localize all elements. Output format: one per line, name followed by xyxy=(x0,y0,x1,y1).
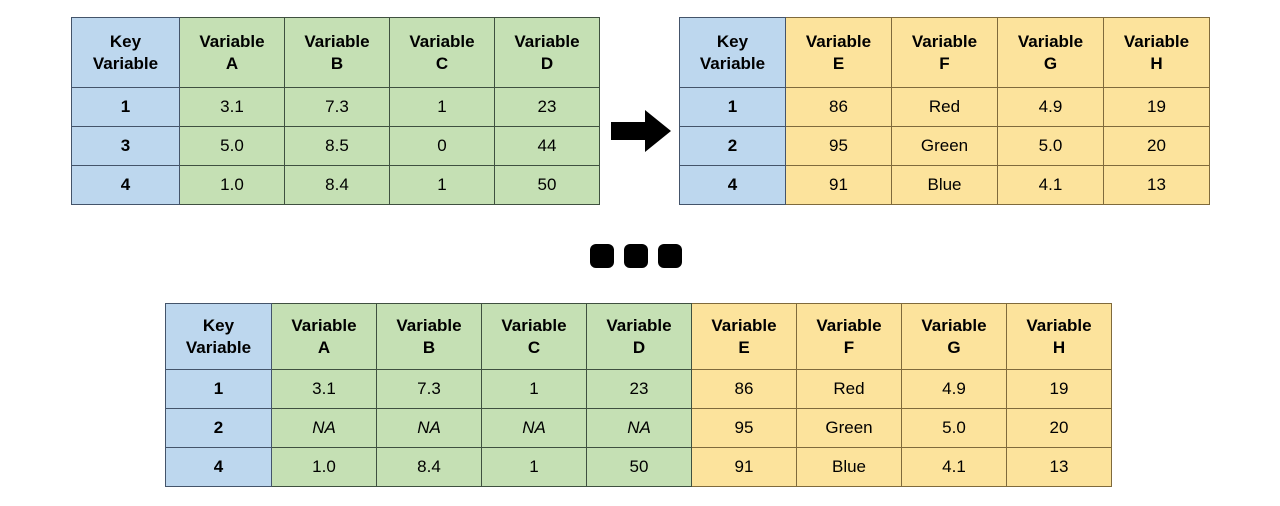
header-word: Variable xyxy=(606,316,671,335)
cell-f: Blue xyxy=(892,166,998,205)
cell-f: Green xyxy=(797,409,902,448)
source-table-right: Key Variable Variable E Variable F Varia… xyxy=(679,17,1210,205)
cell-h: 20 xyxy=(1007,409,1112,448)
cell-key: 3 xyxy=(72,127,180,166)
cell-key: 4 xyxy=(166,448,272,487)
header-cell-variable-f: Variable F xyxy=(797,304,902,370)
cell-b: 8.4 xyxy=(285,166,390,205)
cell-e: 95 xyxy=(786,127,892,166)
cell-b-na: NA xyxy=(377,409,482,448)
header-letter-a: A xyxy=(318,338,330,357)
table-row: 2 95 Green 5.0 20 xyxy=(680,127,1210,166)
header-word: Variable xyxy=(396,316,461,335)
header-cell-variable-e: Variable E xyxy=(692,304,797,370)
header-cell-variable-h: Variable H xyxy=(1007,304,1112,370)
cell-a: 5.0 xyxy=(180,127,285,166)
cell-key: 1 xyxy=(166,370,272,409)
header-key-line2: Variable xyxy=(93,54,158,73)
cell-c: 1 xyxy=(390,166,495,205)
cell-d-na: NA xyxy=(587,409,692,448)
header-cell-variable-d: Variable D xyxy=(587,304,692,370)
cell-c-na: NA xyxy=(482,409,587,448)
header-cell-variable-h: Variable H xyxy=(1104,18,1210,88)
header-word: Variable xyxy=(711,316,776,335)
header-cell-variable-b: Variable B xyxy=(377,304,482,370)
cell-g: 4.1 xyxy=(998,166,1104,205)
header-word: Variable xyxy=(1026,316,1091,335)
cell-key: 2 xyxy=(166,409,272,448)
header-letter-g: G xyxy=(1044,54,1057,73)
cell-f: Blue xyxy=(797,448,902,487)
cell-key: 1 xyxy=(72,88,180,127)
table-row: 1 86 Red 4.9 19 xyxy=(680,88,1210,127)
table-row: 3 5.0 8.5 0 44 xyxy=(72,127,600,166)
cell-f: Red xyxy=(797,370,902,409)
table-row: 4 91 Blue 4.1 13 xyxy=(680,166,1210,205)
table-row: 4 1.0 8.4 1 50 91 Blue 4.1 13 xyxy=(166,448,1112,487)
cell-a: 3.1 xyxy=(180,88,285,127)
header-cell-variable-g: Variable G xyxy=(902,304,1007,370)
cell-h: 19 xyxy=(1007,370,1112,409)
cell-a: 1.0 xyxy=(180,166,285,205)
header-letter-h: H xyxy=(1053,338,1065,357)
cell-d: 44 xyxy=(495,127,600,166)
table-header-row: Key Variable Variable A Variable B Varia… xyxy=(72,18,600,88)
header-key-line1: Key xyxy=(203,316,234,335)
cell-h: 20 xyxy=(1104,127,1210,166)
cell-a-na: NA xyxy=(272,409,377,448)
header-word: Variable xyxy=(816,316,881,335)
dot-icon xyxy=(590,244,614,268)
cell-key: 4 xyxy=(680,166,786,205)
cell-g: 5.0 xyxy=(998,127,1104,166)
cell-g: 4.9 xyxy=(998,88,1104,127)
header-word: Variable xyxy=(409,32,474,51)
header-cell-variable-a: Variable A xyxy=(180,18,285,88)
table-row: 1 3.1 7.3 1 23 xyxy=(72,88,600,127)
cell-d: 50 xyxy=(587,448,692,487)
header-word: Variable xyxy=(291,316,356,335)
cell-h: 13 xyxy=(1104,166,1210,205)
header-letter-f: F xyxy=(844,338,854,357)
cell-e: 91 xyxy=(786,166,892,205)
cell-f: Green xyxy=(892,127,998,166)
cell-key: 2 xyxy=(680,127,786,166)
header-cell-key-variable: Key Variable xyxy=(166,304,272,370)
cell-f: Red xyxy=(892,88,998,127)
cell-d: 23 xyxy=(587,370,692,409)
merged-result-table: Key Variable Variable A Variable B Varia… xyxy=(165,303,1112,487)
header-word: Variable xyxy=(1018,32,1083,51)
cell-a: 1.0 xyxy=(272,448,377,487)
header-letter-e: E xyxy=(833,54,844,73)
cell-g: 4.9 xyxy=(902,370,1007,409)
header-letter-f: F xyxy=(939,54,949,73)
header-cell-variable-c: Variable C xyxy=(390,18,495,88)
header-letter-a: A xyxy=(226,54,238,73)
header-cell-variable-e: Variable E xyxy=(786,18,892,88)
cell-h: 13 xyxy=(1007,448,1112,487)
cell-a: 3.1 xyxy=(272,370,377,409)
cell-e: 91 xyxy=(692,448,797,487)
cell-g: 4.1 xyxy=(902,448,1007,487)
cell-h: 19 xyxy=(1104,88,1210,127)
cell-b: 8.5 xyxy=(285,127,390,166)
header-letter-c: C xyxy=(436,54,448,73)
cell-c: 1 xyxy=(482,448,587,487)
header-word: Variable xyxy=(921,316,986,335)
header-cell-variable-c: Variable C xyxy=(482,304,587,370)
cell-e: 86 xyxy=(786,88,892,127)
header-word: Variable xyxy=(912,32,977,51)
cell-b: 7.3 xyxy=(377,370,482,409)
header-word: Variable xyxy=(1124,32,1189,51)
header-key-line2: Variable xyxy=(186,338,251,357)
header-cell-key-variable: Key Variable xyxy=(72,18,180,88)
header-word: Variable xyxy=(304,32,369,51)
ellipsis-dots xyxy=(590,243,682,269)
right-arrow-icon xyxy=(611,110,671,152)
table-header-row: Key Variable Variable A Variable B Varia… xyxy=(166,304,1112,370)
header-key-line1: Key xyxy=(717,32,748,51)
cell-e: 95 xyxy=(692,409,797,448)
header-letter-h: H xyxy=(1150,54,1162,73)
header-key-line2: Variable xyxy=(700,54,765,73)
dot-icon xyxy=(624,244,648,268)
table-header-row: Key Variable Variable E Variable F Varia… xyxy=(680,18,1210,88)
header-cell-variable-d: Variable D xyxy=(495,18,600,88)
header-word: Variable xyxy=(199,32,264,51)
header-letter-g: G xyxy=(947,338,960,357)
header-letter-c: C xyxy=(528,338,540,357)
header-cell-variable-b: Variable B xyxy=(285,18,390,88)
header-cell-variable-f: Variable F xyxy=(892,18,998,88)
header-cell-key-variable: Key Variable xyxy=(680,18,786,88)
cell-g: 5.0 xyxy=(902,409,1007,448)
header-word: Variable xyxy=(514,32,579,51)
cell-key: 4 xyxy=(72,166,180,205)
header-cell-variable-a: Variable A xyxy=(272,304,377,370)
header-letter-b: B xyxy=(423,338,435,357)
dot-icon xyxy=(658,244,682,268)
cell-d: 50 xyxy=(495,166,600,205)
header-cell-variable-g: Variable G xyxy=(998,18,1104,88)
cell-c: 0 xyxy=(390,127,495,166)
cell-c: 1 xyxy=(482,370,587,409)
header-key-line1: Key xyxy=(110,32,141,51)
header-word: Variable xyxy=(806,32,871,51)
header-letter-d: D xyxy=(541,54,553,73)
header-letter-e: E xyxy=(738,338,749,357)
cell-d: 23 xyxy=(495,88,600,127)
cell-c: 1 xyxy=(390,88,495,127)
table-row: 2 NA NA NA NA 95 Green 5.0 20 xyxy=(166,409,1112,448)
cell-e: 86 xyxy=(692,370,797,409)
join-diagram: Key Variable Variable A Variable B Varia… xyxy=(0,0,1280,506)
cell-key: 1 xyxy=(680,88,786,127)
table-row: 1 3.1 7.3 1 23 86 Red 4.9 19 xyxy=(166,370,1112,409)
header-word: Variable xyxy=(501,316,566,335)
cell-b: 8.4 xyxy=(377,448,482,487)
source-table-left: Key Variable Variable A Variable B Varia… xyxy=(71,17,600,205)
cell-b: 7.3 xyxy=(285,88,390,127)
header-letter-b: B xyxy=(331,54,343,73)
header-letter-d: D xyxy=(633,338,645,357)
table-row: 4 1.0 8.4 1 50 xyxy=(72,166,600,205)
